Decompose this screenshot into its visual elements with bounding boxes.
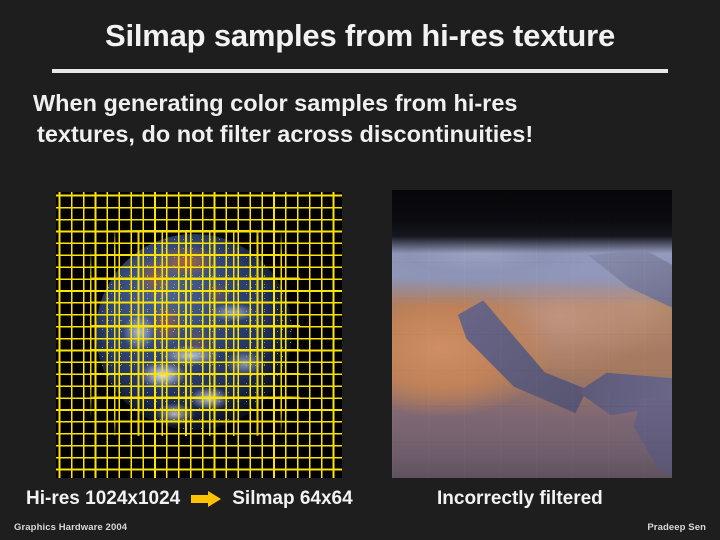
filter-block-seams — [392, 190, 672, 478]
caption-right: Incorrectly filtered — [437, 488, 603, 510]
body-text: When generating color samples from hi-re… — [33, 88, 693, 150]
caption-source-label: Hi-res 1024x1024 — [26, 488, 180, 510]
page-title: Silmap samples from hi-res texture — [0, 18, 720, 54]
body-line-2: textures, do not filter across discontin… — [33, 119, 693, 150]
figure-incorrectly-filtered — [392, 190, 672, 478]
footer-author: Pradeep Sen — [647, 522, 706, 533]
slide-canvas: { "slide": { "title": "Silmap samples fr… — [0, 0, 720, 540]
silmap-grid-coarse-overlay — [90, 230, 300, 436]
arrow-head — [208, 491, 221, 507]
caption-left: Hi-res 1024x1024 Silmap 64x64 — [26, 488, 353, 510]
caption-result-label: Silmap 64x64 — [232, 488, 352, 510]
arrow-shaft — [191, 495, 209, 503]
figure-hires-silmap — [56, 192, 342, 478]
body-line-1: When generating color samples from hi-re… — [33, 88, 693, 119]
right-arrow-icon — [191, 491, 221, 507]
footer-conference: Graphics Hardware 2004 — [14, 522, 127, 533]
earth-texture-image — [56, 192, 342, 478]
title-divider — [52, 69, 668, 73]
filtered-terrain-image — [392, 190, 672, 478]
